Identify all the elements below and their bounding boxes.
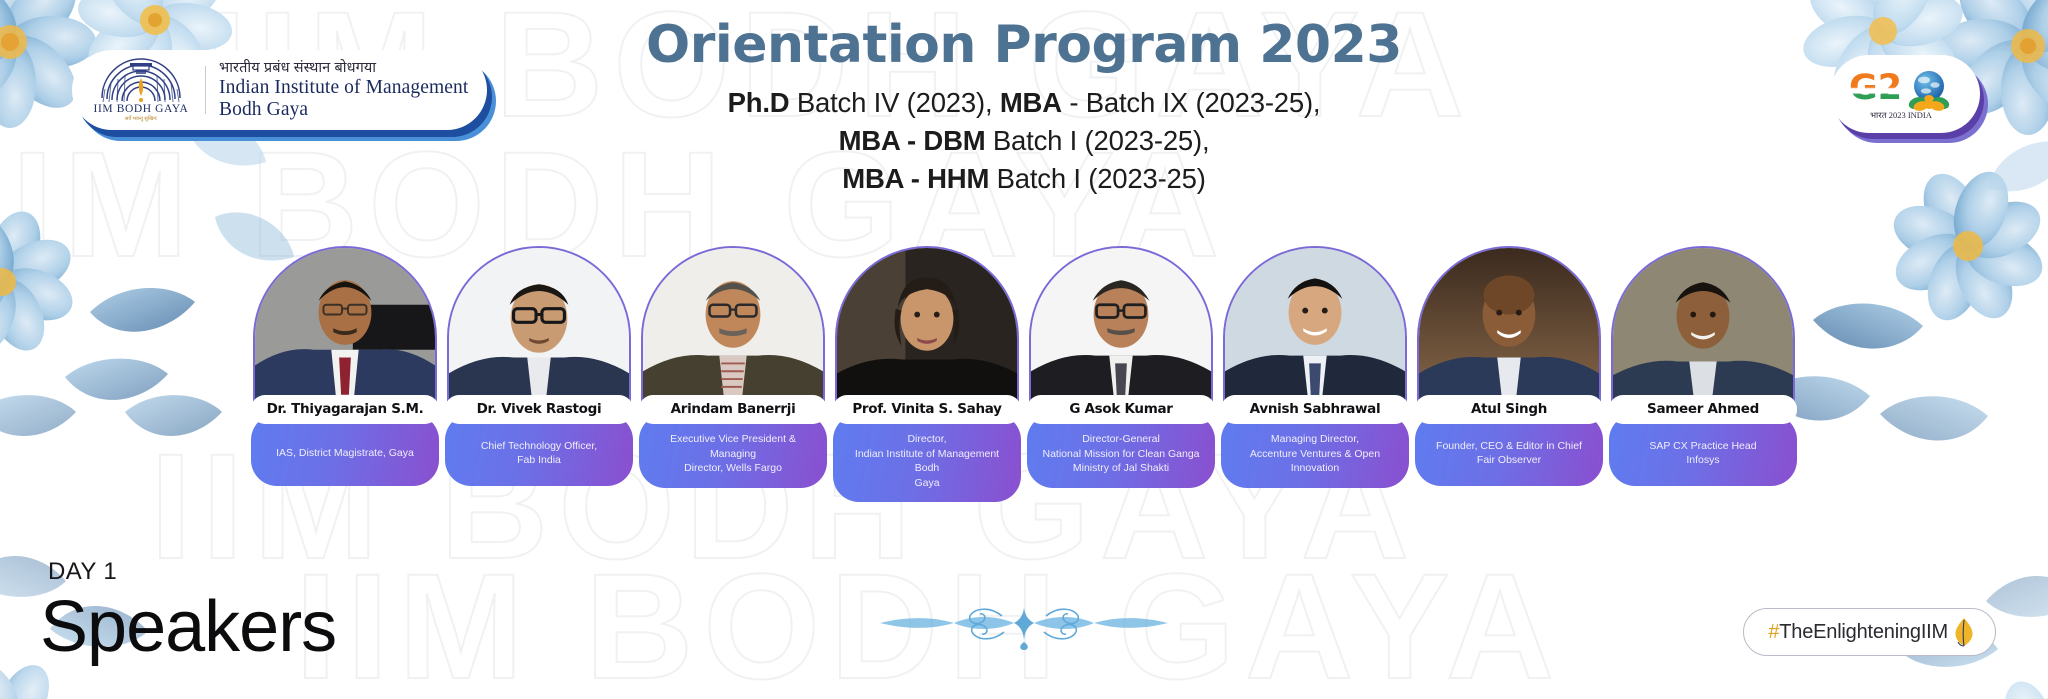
subtitle-1-bold-1: Ph.D [728, 87, 790, 118]
speaker-card[interactable]: Dr. Thiyagarajan S.M. IAS, District Magi… [251, 246, 439, 486]
svg-text:G2: G2 [1849, 68, 1902, 108]
speaker-card[interactable]: Prof. Vinita S. Sahay Director, Indian I… [833, 246, 1021, 502]
poster-canvas: IIM BODH GAYA IIM BODH GAYA IIM BODH GAY… [0, 0, 2048, 699]
speaker-photo [643, 248, 823, 409]
speaker-role-card: SAP CX Practice Head Infosys [1609, 414, 1797, 486]
svg-text:IIM BODH GAYA: IIM BODH GAYA [94, 103, 189, 115]
svg-text:सर्वे भवन्तु सुखिनः: सर्वे भवन्तु सुखिनः [125, 115, 158, 122]
speaker-name-plate: Arindam Banerrji [639, 395, 827, 424]
subtitle-1-rest-1: Batch IV (2023), [789, 87, 999, 118]
speaker-name-plate: Avnish Sabhrawal [1221, 395, 1409, 424]
subtitle-1-bold-2: MBA [1000, 87, 1062, 118]
speaker-photo-frame [835, 246, 1019, 411]
speaker-photo-frame [1029, 246, 1213, 411]
speaker-name: G Asok Kumar [1033, 401, 1209, 417]
speaker-role-card: IAS, District Magistrate, Gaya [251, 414, 439, 486]
speaker-name: Dr. Vivek Rastogi [451, 401, 627, 417]
speaker-photo-frame [253, 246, 437, 411]
subtitle-2-rest-1: Batch I (2023-25), [985, 125, 1209, 156]
subtitle-1-rest-2: - Batch IX (2023-25), [1062, 87, 1321, 118]
speaker-photo [1613, 248, 1793, 409]
speaker-role: Managing Director, Accenture Ventures & … [1231, 432, 1399, 475]
floral-decoration-bottom-right [1858, 509, 2048, 699]
speaker-photo-frame [1417, 246, 1601, 411]
subtitle-line-3: MBA - HHM Batch I (2023-25) [0, 160, 2048, 198]
institute-name-english-line2: Bodh Gaya [219, 99, 468, 121]
hashtag-text: #TheEnlighteningIIM [1768, 621, 1948, 644]
speaker-card[interactable]: Dr. Vivek Rastogi Chief Technology Offic… [445, 246, 633, 486]
speaker-card[interactable]: Avnish Sabhrawal Managing Director, Acce… [1221, 246, 1409, 488]
speaker-role-card: Director-General National Mission for Cl… [1027, 414, 1215, 487]
institute-name-english-line1: Indian Institute of Management [219, 77, 468, 99]
speaker-role: Chief Technology Officer, Fab India [481, 439, 597, 468]
speaker-card[interactable]: Arindam Banerrji Executive Vice Presiden… [639, 246, 827, 488]
speaker-role-card: Executive Vice President & Managing Dire… [639, 414, 827, 487]
speaker-role: IAS, District Magistrate, Gaya [276, 446, 414, 460]
speaker-role-card: Chief Technology Officer, Fab India [445, 414, 633, 486]
speakers-row: Dr. Thiyagarajan S.M. IAS, District Magi… [0, 246, 2048, 502]
speaker-name-plate: Dr. Vivek Rastogi [445, 395, 633, 424]
speaker-name-plate: G Asok Kumar [1027, 395, 1215, 424]
speaker-card[interactable]: G Asok Kumar Director-General National M… [1027, 246, 1215, 488]
speaker-photo [1031, 248, 1211, 409]
ornamental-divider [874, 596, 1174, 652]
speaker-card[interactable]: Atul Singh Founder, CEO & Editor in Chie… [1415, 246, 1603, 486]
subtitle-3-rest-1: Batch I (2023-25) [989, 163, 1206, 194]
g20-logo-icon: G2 भारत 2023 INDIA [1845, 65, 1965, 123]
speaker-name: Dr. Thiyagarajan S.M. [257, 401, 433, 417]
speaker-role: Founder, CEO & Editor in Chief Fair Obse… [1436, 439, 1582, 468]
logo-divider [205, 66, 206, 114]
institute-name-hindi: भारतीय प्रबंध संस्थान बोधगया [219, 59, 468, 77]
speaker-role: Executive Vice President & Managing Dire… [649, 432, 817, 475]
speaker-name: Arindam Banerrji [645, 401, 821, 417]
speaker-name: Prof. Vinita S. Sahay [839, 401, 1015, 417]
speaker-card[interactable]: Sameer Ahmed SAP CX Practice Head Infosy… [1609, 246, 1797, 486]
speaker-name-plate: Prof. Vinita S. Sahay [833, 395, 1021, 424]
hash-symbol: # [1768, 621, 1779, 643]
speaker-name-plate: Sameer Ahmed [1609, 395, 1797, 424]
bodhi-leaf-icon [1953, 617, 1975, 647]
day-label: DAY 1 [48, 558, 117, 586]
speaker-photo [255, 248, 435, 409]
speaker-photo-frame [447, 246, 631, 411]
speaker-role: SAP CX Practice Head Infosys [1649, 439, 1756, 468]
speaker-role: Director-General National Mission for Cl… [1043, 432, 1200, 475]
subtitle-2-bold-1: MBA - DBM [839, 125, 986, 156]
speaker-name: Sameer Ahmed [1615, 401, 1791, 417]
speaker-photo [449, 248, 629, 409]
g20-caption: भारत 2023 INDIA [1870, 110, 1933, 120]
speaker-name: Atul Singh [1421, 401, 1597, 417]
speaker-photo [1225, 248, 1405, 409]
speaker-role: Director, Indian Institute of Management… [843, 432, 1011, 490]
speaker-role-card: Managing Director, Accenture Ventures & … [1221, 414, 1409, 487]
hashtag-label: TheEnlighteningIIM [1779, 621, 1948, 643]
speaker-photo [837, 248, 1017, 409]
g20-logo-pill: G2 भारत 2023 INDIA [1830, 55, 1980, 133]
subtitle-3-bold-1: MBA - HHM [842, 163, 989, 194]
institute-name-block: भारतीय प्रबंध संस्थान बोधगया Indian Inst… [219, 59, 468, 121]
institute-logo-pill: IIM BODH GAYA सर्वे भवन्तु सुखिनः भारतीय… [72, 50, 487, 130]
speaker-name-plate: Atul Singh [1415, 395, 1603, 424]
speaker-name: Avnish Sabhrawal [1227, 401, 1403, 417]
speaker-photo [1419, 248, 1599, 409]
speaker-photo-frame [641, 246, 825, 411]
speaker-photo-frame [1611, 246, 1795, 411]
speaker-role-card: Director, Indian Institute of Management… [833, 414, 1021, 502]
hashtag-badge[interactable]: #TheEnlighteningIIM [1743, 608, 1996, 656]
speaker-name-plate: Dr. Thiyagarajan S.M. [251, 395, 439, 424]
speaker-photo-frame [1223, 246, 1407, 411]
section-title: Speakers [40, 588, 336, 667]
iim-bodh-gaya-logo-icon: IIM BODH GAYA सर्वे भवन्तु सुखिनः [90, 58, 192, 122]
speaker-role-card: Founder, CEO & Editor in Chief Fair Obse… [1415, 414, 1603, 486]
